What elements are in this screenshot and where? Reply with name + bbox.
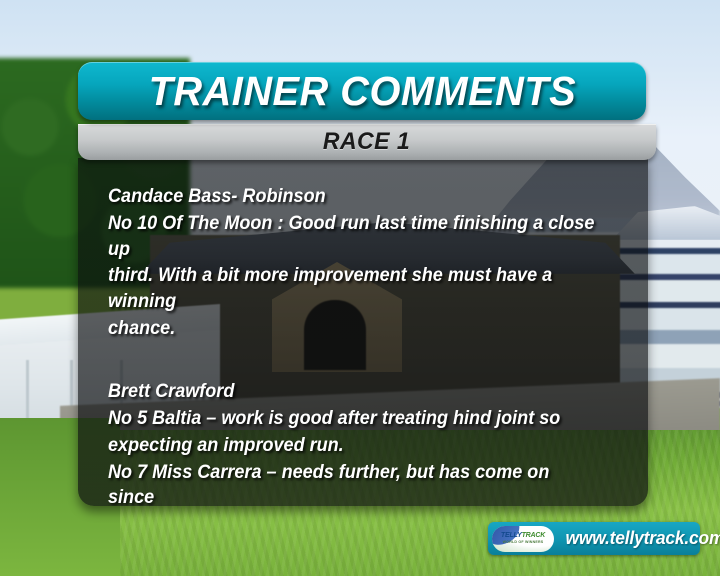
tellytrack-watermark-badge: TELLYTRACK WORLD OF WINNERS www.tellytra… bbox=[488, 522, 700, 555]
race-label: RACE 1 bbox=[323, 128, 410, 156]
comment-line: chance. bbox=[108, 316, 600, 342]
comment-line: No 7 Miss Carrera – needs further, but h… bbox=[108, 460, 600, 506]
title-bar: TRAINER COMMENTS bbox=[78, 62, 646, 120]
comment-block: Candace Bass- Robinson No 10 Of The Moon… bbox=[108, 184, 626, 341]
block-spacer bbox=[108, 359, 626, 379]
page-title: TRAINER COMMENTS bbox=[148, 68, 576, 115]
logo-wordmark: TELLYTRACK bbox=[501, 532, 545, 539]
trainer-name: Brett Crawford bbox=[108, 379, 600, 404]
website-url: www.tellytrack.com bbox=[565, 528, 720, 549]
logo-tagline: WORLD OF WINNERS bbox=[503, 541, 544, 545]
tellytrack-logo-icon: TELLYTRACK WORLD OF WINNERS bbox=[492, 526, 554, 552]
logo-wordmark-part2: TRACK bbox=[522, 532, 546, 539]
broadcast-overlay: TRAINER COMMENTS RACE 1 Candace Bass- Ro… bbox=[0, 0, 720, 576]
comments-panel: Candace Bass- Robinson No 10 Of The Moon… bbox=[78, 158, 648, 506]
comment-line: third. With a bit more improvement she m… bbox=[108, 263, 600, 314]
logo-wordmark-part1: TELLY bbox=[501, 532, 522, 539]
trainer-name: Candace Bass- Robinson bbox=[108, 184, 600, 209]
race-subtitle-bar: RACE 1 bbox=[78, 124, 656, 160]
comment-line: expecting an improved run. bbox=[108, 433, 600, 459]
comment-line: No 5 Baltia – work is good after treatin… bbox=[108, 406, 600, 432]
comment-line: No 10 Of The Moon : Good run last time f… bbox=[108, 211, 600, 262]
comment-block: Brett Crawford No 5 Baltia – work is goo… bbox=[108, 379, 626, 506]
